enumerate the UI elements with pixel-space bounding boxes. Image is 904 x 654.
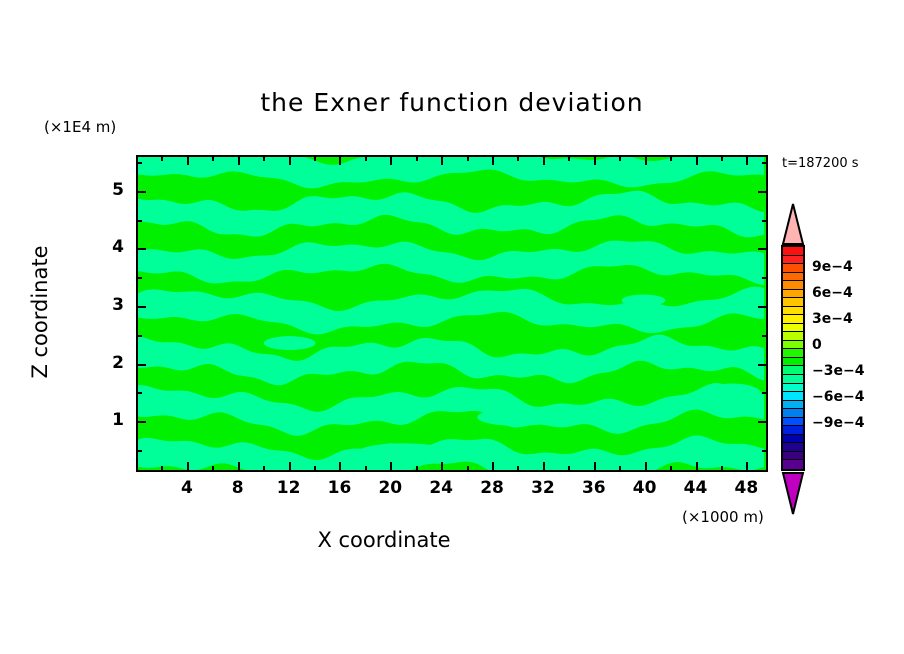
colorbar-tick-label: −6e−4 (812, 389, 864, 405)
colorbar-tick-label: −9e−4 (812, 415, 864, 431)
colorbar-labels: 9e−46e−43e−40−3e−4−6e−4−9e−4 (0, 0, 904, 654)
colorbar-tick-label: 9e−4 (812, 259, 853, 275)
colorbar-tick-label: 6e−4 (812, 285, 853, 301)
colorbar-tick-label: 0 (812, 337, 822, 353)
colorbar-tick-label: −3e−4 (812, 363, 864, 379)
colorbar-tick-label: 3e−4 (812, 311, 853, 327)
